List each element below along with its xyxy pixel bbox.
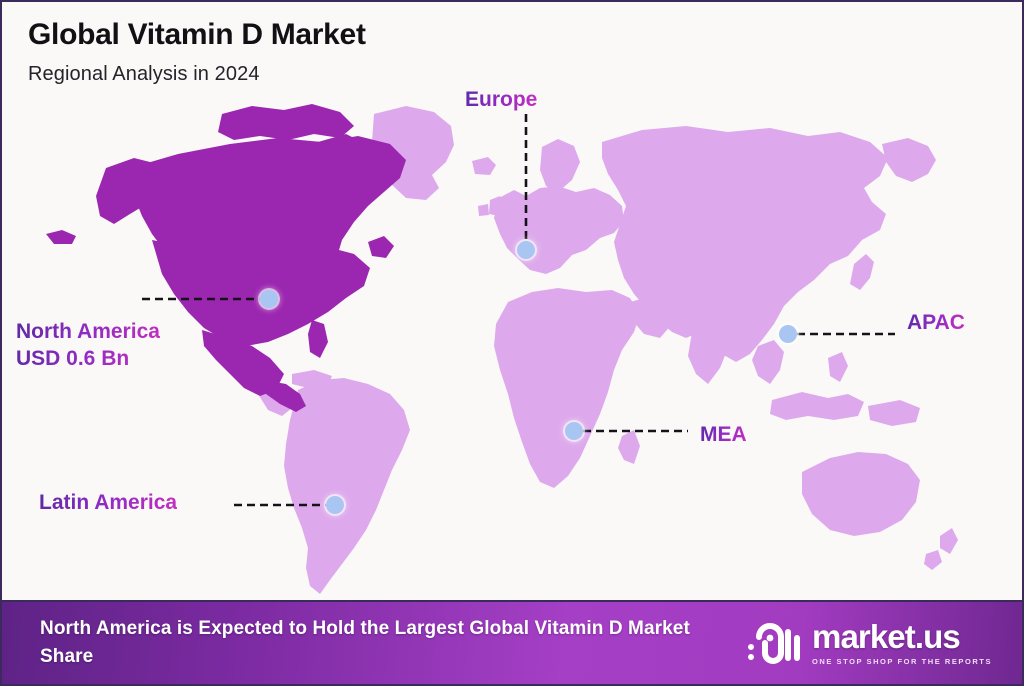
ireland-shape <box>478 204 489 216</box>
marker-dot-north-america[interactable] <box>260 290 278 308</box>
marker-dot-latin-america[interactable] <box>326 496 344 514</box>
japan-shape <box>850 254 874 290</box>
region-label-north-america[interactable]: North America USD 0.6 Bn <box>16 318 160 373</box>
northeast-asia-shape <box>882 138 936 182</box>
market-us-logo-text: market.us ONE STOP SHOP FOR THE REPORTS <box>812 620 992 666</box>
caribbean-shape <box>292 370 332 388</box>
philippines-shape <box>828 352 848 382</box>
header: Global Vitamin D Market Regional Analysi… <box>28 18 366 86</box>
marker-dot-europe[interactable] <box>517 241 535 259</box>
region-label-apac-name: APAC <box>907 310 965 336</box>
logo-tagline: ONE STOP SHOP FOR THE REPORTS <box>812 657 992 666</box>
region-label-north-america-value: USD 0.6 Bn <box>16 345 160 372</box>
europe-shape <box>494 186 624 274</box>
iceland-shape <box>472 157 496 175</box>
australia-shape <box>802 452 920 536</box>
scandinavia-shape <box>540 139 580 192</box>
marker-dot-mea[interactable] <box>565 422 583 440</box>
florida-shape <box>308 320 328 358</box>
infographic-canvas: Global Vitamin D Market Regional Analysi… <box>0 0 1024 686</box>
logo-wordmark: market.us <box>812 620 960 653</box>
page-subtitle: Regional Analysis in 2024 <box>28 63 366 86</box>
market-us-logo-icon <box>745 617 801 669</box>
page-title: Global Vitamin D Market <box>28 18 366 51</box>
marker-dot-apac[interactable] <box>779 325 797 343</box>
new-zealand-south-shape <box>924 550 942 570</box>
footer-bar: North America is Expected to Hold the La… <box>2 600 1024 684</box>
footer-callout-text: North America is Expected to Hold the La… <box>40 615 740 670</box>
region-label-north-america-name: North America <box>16 318 160 345</box>
region-label-latin-america[interactable]: Latin America <box>39 490 177 516</box>
region-label-mea[interactable]: MEA <box>700 422 747 448</box>
region-label-apac[interactable]: APAC <box>907 310 965 336</box>
india-shape <box>688 324 728 384</box>
madagascar-shape <box>618 430 640 464</box>
market-us-logo[interactable]: market.us ONE STOP SHOP FOR THE REPORTS <box>745 617 1000 669</box>
newfoundland-shape <box>368 236 394 258</box>
new-guinea-shape <box>868 400 920 426</box>
arctic-islands-shape <box>218 104 354 140</box>
region-label-europe-name: Europe <box>465 87 537 113</box>
region-label-latin-america-name: Latin America <box>39 490 177 516</box>
region-label-mea-name: MEA <box>700 422 747 448</box>
africa-shape <box>494 288 640 488</box>
indonesia-shape <box>770 392 864 420</box>
south-america-shape <box>284 378 410 594</box>
new-zealand-shape <box>940 528 958 554</box>
southeast-asia-shape <box>752 340 784 384</box>
region-label-europe[interactable]: Europe <box>465 87 537 113</box>
aleutian-islands-shape <box>46 230 76 244</box>
